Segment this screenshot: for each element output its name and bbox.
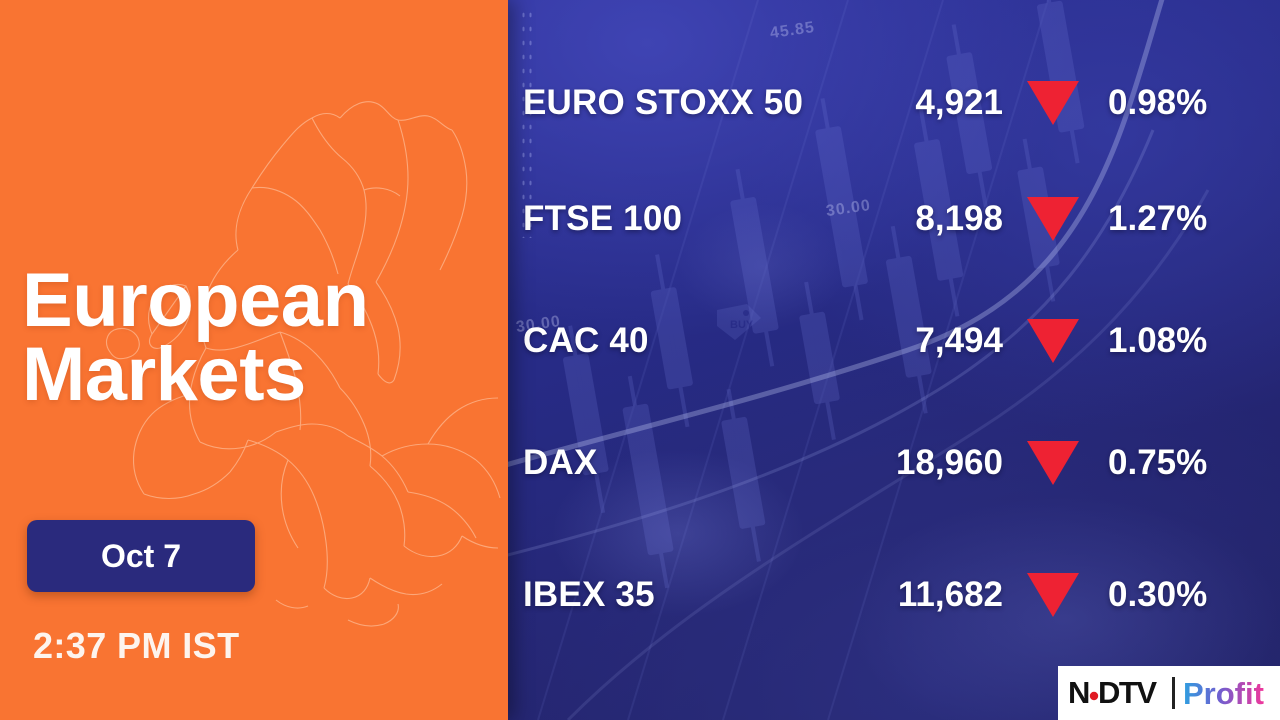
ndtv-red-dot: [1090, 692, 1098, 700]
table-row[interactable]: EURO STOXX 50 4,921 0.98%: [508, 72, 1280, 134]
left-orange-panel: European Markets Oct 7 2:37 PM IST: [0, 0, 508, 720]
index-name: EURO STOXX 50: [523, 83, 803, 123]
svg-text:DTV: DTV: [1098, 675, 1157, 710]
index-name: IBEX 35: [523, 575, 655, 615]
down-arrow-icon: [1025, 432, 1081, 494]
down-arrow-icon: [1025, 72, 1081, 134]
logo-separator: [1172, 677, 1175, 709]
table-row[interactable]: FTSE 100 8,198 1.27%: [508, 188, 1280, 250]
timestamp-label: 2:37 PM IST: [33, 625, 239, 667]
headline-line-2: Markets: [22, 338, 492, 412]
table-row[interactable]: IBEX 35 11,682 0.30%: [508, 564, 1280, 626]
headline-line-1: European: [22, 258, 369, 343]
index-value: 7,494: [798, 321, 1003, 361]
index-name: FTSE 100: [523, 199, 682, 239]
index-value: 4,921: [798, 83, 1003, 123]
down-arrow-icon: [1025, 310, 1081, 372]
profit-wordmark: Profit: [1183, 676, 1264, 711]
page-title: European Markets: [22, 264, 492, 411]
broadcast-market-card: European Markets Oct 7 2:37 PM IST: [0, 0, 1280, 720]
date-badge: Oct 7: [27, 520, 255, 592]
svg-text:N: N: [1068, 675, 1089, 710]
down-arrow-icon: [1025, 564, 1081, 626]
right-data-panel: 45.85 30.00 30.00 BUY EURO STOXX 50 4,92…: [508, 0, 1280, 720]
index-change: 0.30%: [1108, 575, 1268, 615]
index-value: 11,682: [798, 575, 1003, 615]
index-name: CAC 40: [523, 321, 649, 361]
date-badge-label: Oct 7: [101, 538, 181, 575]
index-value: 8,198: [798, 199, 1003, 239]
ndtv-wordmark: N DTV: [1068, 675, 1157, 710]
index-change: 0.98%: [1108, 83, 1268, 123]
index-change: 1.27%: [1108, 199, 1268, 239]
index-change: 0.75%: [1108, 443, 1268, 483]
index-value: 18,960: [798, 443, 1003, 483]
index-change: 1.08%: [1108, 321, 1268, 361]
market-table: EURO STOXX 50 4,921 0.98% FTSE 100 8,198…: [508, 0, 1280, 720]
table-row[interactable]: DAX 18,960 0.75%: [508, 432, 1280, 494]
table-row[interactable]: CAC 40 7,494 1.08%: [508, 310, 1280, 372]
ndtv-profit-logo[interactable]: N DTV Profit: [1058, 666, 1280, 720]
down-arrow-icon: [1025, 188, 1081, 250]
index-name: DAX: [523, 443, 598, 483]
